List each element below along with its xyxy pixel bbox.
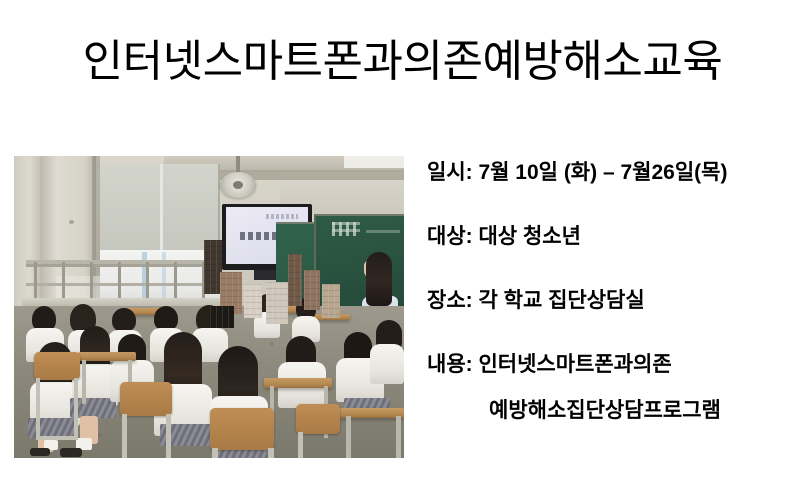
detail-location: 장소: 각 학교 집단상담실 bbox=[427, 288, 645, 314]
rail-post bbox=[34, 262, 37, 298]
detail-content-line2: 예방해소집단상담프로그램 bbox=[489, 398, 721, 424]
privacy-mosaic bbox=[244, 284, 262, 318]
desk-leg bbox=[346, 416, 351, 458]
page-title: 인터넷스마트폰과의존예방해소교육 bbox=[0, 34, 805, 90]
chair-leg bbox=[298, 432, 303, 458]
classroom-photo bbox=[14, 156, 404, 458]
student-torso bbox=[370, 344, 404, 384]
chair bbox=[210, 408, 274, 450]
rail-post bbox=[62, 262, 65, 298]
privacy-mosaic bbox=[322, 284, 340, 318]
chair bbox=[34, 352, 80, 380]
photo-scene bbox=[14, 156, 404, 458]
chair-rail bbox=[36, 436, 78, 440]
ceiling-light bbox=[344, 156, 404, 168]
rail-post bbox=[90, 262, 93, 298]
student-shoe bbox=[60, 448, 82, 457]
rail-post bbox=[118, 262, 121, 298]
privacy-mosaic bbox=[304, 270, 320, 310]
window-rail-upper bbox=[26, 264, 222, 267]
chair-leg bbox=[212, 448, 218, 458]
chair-leg bbox=[268, 448, 274, 458]
rail-post bbox=[174, 262, 177, 298]
privacy-mosaic bbox=[210, 306, 234, 328]
window-rail-lower bbox=[26, 283, 222, 286]
desk-leg bbox=[396, 416, 401, 458]
chair-leg bbox=[36, 378, 40, 440]
student-shoe bbox=[30, 448, 50, 456]
pillar-mark bbox=[69, 220, 74, 224]
rail-post bbox=[146, 262, 149, 298]
desk bbox=[264, 378, 332, 388]
chalkboard-writing bbox=[332, 222, 360, 236]
window-blind-divider bbox=[160, 164, 163, 250]
privacy-mosaic bbox=[288, 254, 302, 306]
chair-leg bbox=[74, 378, 78, 440]
chair-leg bbox=[166, 414, 171, 458]
teacher-hair bbox=[366, 252, 392, 306]
desk-leg bbox=[82, 360, 86, 404]
chair bbox=[120, 382, 172, 416]
detail-content-line1: 내용: 인터넷스마트폰과의존 bbox=[427, 352, 672, 378]
chair-leg bbox=[122, 414, 127, 458]
chair bbox=[296, 404, 340, 434]
detail-audience: 대상: 대상 청소년 bbox=[427, 224, 581, 250]
fan-hub bbox=[233, 181, 243, 189]
slide-header-text bbox=[266, 214, 298, 219]
student-head bbox=[112, 308, 136, 332]
projector-mount bbox=[254, 270, 276, 280]
detail-date: 일시: 7월 10일 (화) – 7월26일(목) bbox=[427, 160, 727, 186]
chalkboard-chalk-line bbox=[366, 230, 400, 233]
privacy-mosaic bbox=[266, 282, 288, 324]
